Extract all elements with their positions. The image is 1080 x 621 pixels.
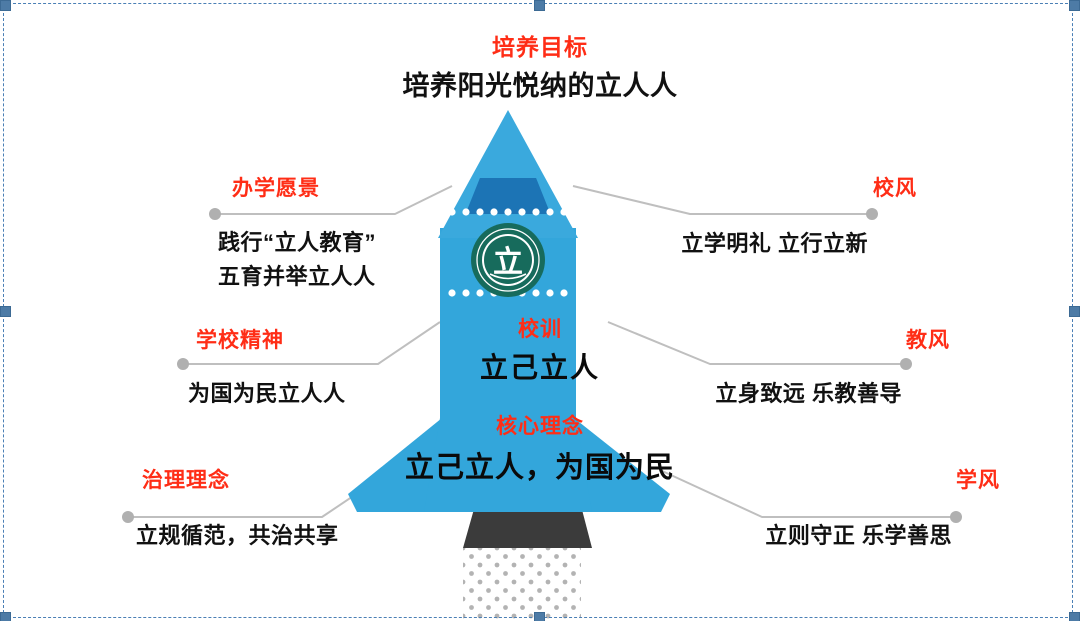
callout-school-ethos-value: 立学明礼 立行立新 <box>681 226 868 258</box>
resize-handle-bottom-center[interactable] <box>534 612 545 621</box>
resize-handle-middle-left[interactable] <box>0 306 11 317</box>
callout-teaching-ethos-value: 立身致远 乐教善导 <box>715 376 902 408</box>
callout-vision-value: 践行“立人教育” 五育并举立人人 <box>218 226 376 294</box>
resize-handle-top-center[interactable] <box>534 0 545 11</box>
resize-handle-bottom-right[interactable] <box>1069 612 1080 621</box>
callout-vision-label: 办学愿景 <box>232 172 320 202</box>
rivet-dots-top <box>448 208 567 215</box>
callout-spirit-label: 学校精神 <box>196 324 284 354</box>
emblem-center-glyph: 立 <box>493 245 523 279</box>
resize-handle-middle-right[interactable] <box>1069 306 1080 317</box>
page-title-label: 培养目标 <box>0 28 1080 62</box>
resize-handle-top-right[interactable] <box>1069 0 1080 11</box>
rocket-nose-band <box>430 178 590 214</box>
callout-learning-ethos-label: 学风 <box>956 464 1000 494</box>
dot-school-ethos <box>866 208 878 220</box>
core-philosophy-label: 核心理念 <box>0 410 1080 440</box>
callout-vision-line-2: 五育并举立人人 <box>218 260 376 294</box>
callout-teaching-ethos-label: 教风 <box>906 324 950 354</box>
school-emblem: 立 <box>470 222 546 298</box>
callout-school-ethos-label: 校风 <box>873 172 917 202</box>
resize-handle-bottom-left[interactable] <box>0 612 11 621</box>
callout-governance-label: 治理理念 <box>142 464 230 494</box>
callout-spirit-value: 为国为民立人人 <box>188 376 346 408</box>
dot-vision <box>209 208 221 220</box>
callout-vision-line-1: 践行“立人教育” <box>218 226 376 260</box>
callout-governance-value: 立规循范，共治共享 <box>136 518 339 550</box>
callout-learning-ethos-value: 立则守正 乐学善思 <box>765 518 952 550</box>
dot-governance <box>122 511 134 523</box>
rocket-nose-cone <box>438 110 578 238</box>
connector-school-ethos <box>573 186 872 214</box>
resize-handle-top-left[interactable] <box>0 0 11 11</box>
slide-canvas: 立 培养目标 培养阳光悦纳的立人人 校训 立己立人 核心理念 立己立人，为国为民… <box>0 0 1080 621</box>
rocket-exhaust <box>463 548 581 620</box>
page-title-value: 培养阳光悦纳的立人人 <box>0 64 1080 103</box>
